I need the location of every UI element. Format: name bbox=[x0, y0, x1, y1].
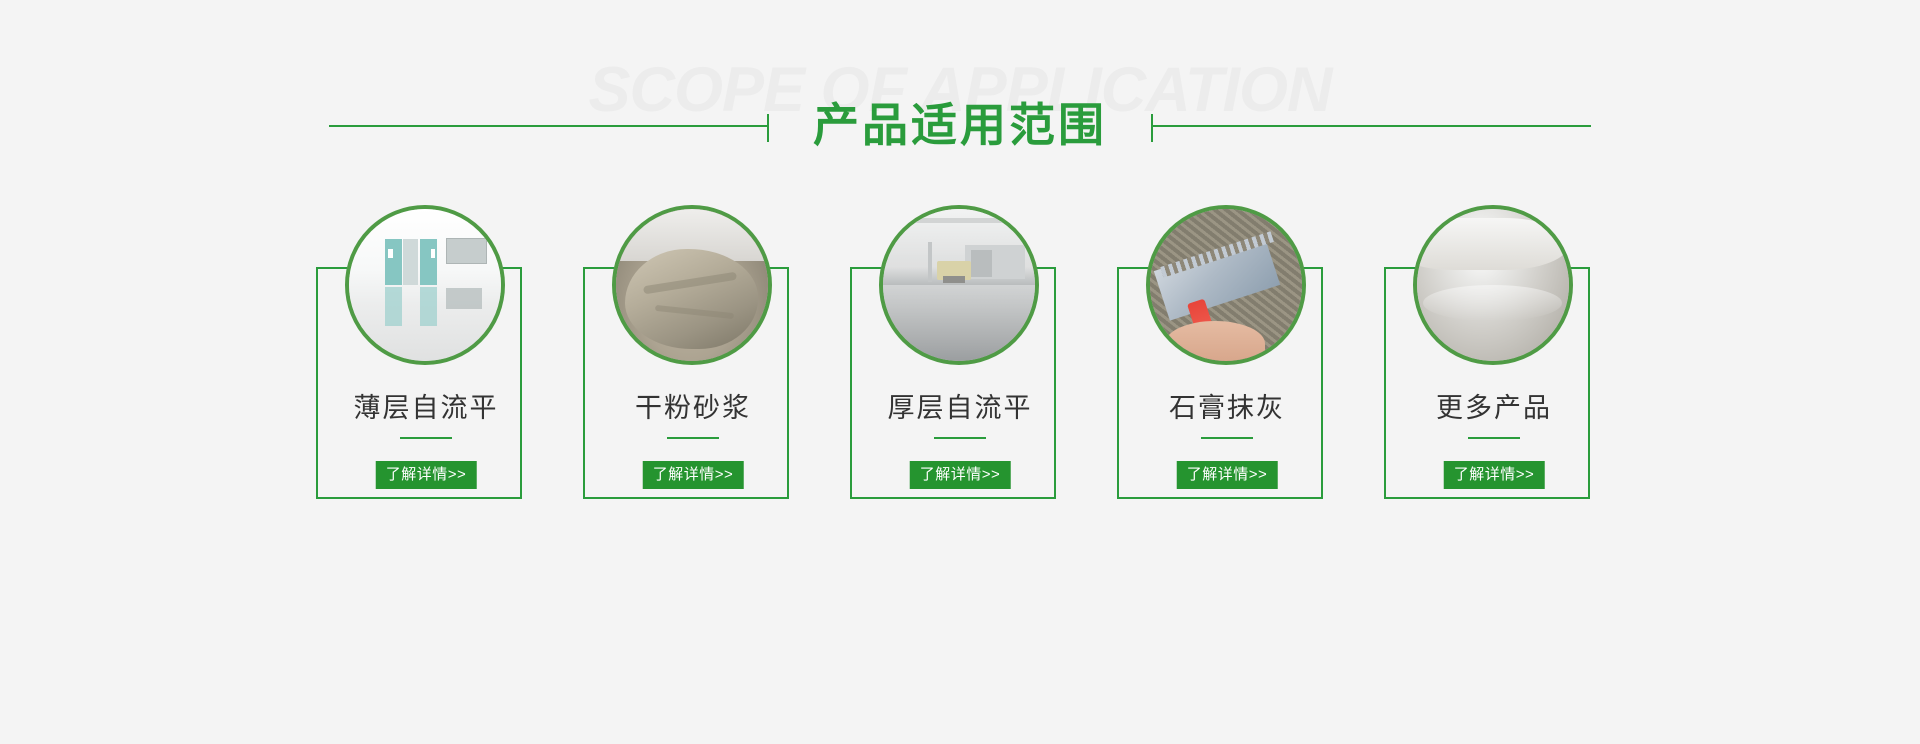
card-image-circle bbox=[1413, 205, 1573, 365]
thin-layer-self-leveling-floor-photo bbox=[349, 209, 501, 361]
dry-powder-mortar-photo bbox=[616, 209, 768, 361]
card-image-circle bbox=[345, 205, 505, 365]
product-category-card[interactable]: 干粉砂浆 了解详情>> bbox=[576, 205, 811, 515]
product-category-card[interactable]: 石膏抹灰 了解详情>> bbox=[1110, 205, 1345, 515]
heading-rule-left-tick bbox=[767, 114, 769, 142]
card-title: 厚层自流平 bbox=[843, 391, 1078, 425]
card-title: 干粉砂浆 bbox=[576, 391, 811, 425]
heading-title-row: 产品适用范围 bbox=[0, 97, 1920, 153]
heading-rule-right-bar bbox=[1151, 125, 1591, 127]
thick-layer-self-leveling-floor-photo bbox=[883, 209, 1035, 361]
card-title: 石膏抹灰 bbox=[1110, 391, 1345, 425]
card-title-underline bbox=[400, 437, 452, 439]
product-category-card[interactable]: 更多产品 了解详情>> bbox=[1377, 205, 1612, 515]
card-image-circle bbox=[879, 205, 1039, 365]
learn-more-button[interactable]: 了解详情>> bbox=[376, 461, 477, 489]
heading-rule-left-bar bbox=[329, 125, 769, 127]
card-title-underline bbox=[667, 437, 719, 439]
more-products-surface-photo bbox=[1417, 209, 1569, 361]
card-title-underline bbox=[1468, 437, 1520, 439]
page-title: 产品适用范围 bbox=[769, 97, 1151, 153]
learn-more-button[interactable]: 了解详情>> bbox=[1177, 461, 1278, 489]
card-title-underline bbox=[1201, 437, 1253, 439]
learn-more-button[interactable]: 了解详情>> bbox=[1444, 461, 1545, 489]
learn-more-button[interactable]: 了解详情>> bbox=[643, 461, 744, 489]
gypsum-plastering-trowel-photo bbox=[1150, 209, 1302, 361]
heading-rule-right-tick bbox=[1151, 114, 1153, 142]
learn-more-button[interactable]: 了解详情>> bbox=[910, 461, 1011, 489]
card-image-circle bbox=[612, 205, 772, 365]
heading-rule-left bbox=[329, 108, 769, 142]
card-image-circle bbox=[1146, 205, 1306, 365]
card-title-underline bbox=[934, 437, 986, 439]
section-heading: SCOPE OF APPLICATION 产品适用范围 bbox=[0, 55, 1920, 175]
product-category-card[interactable]: 厚层自流平 了解详情>> bbox=[843, 205, 1078, 515]
card-title: 薄层自流平 bbox=[309, 391, 544, 425]
product-category-card-list: 薄层自流平 了解详情>> 干粉砂浆 了解详情>> bbox=[0, 205, 1920, 515]
heading-rule-right bbox=[1151, 108, 1591, 142]
card-title: 更多产品 bbox=[1377, 391, 1612, 425]
scope-of-application-section: SCOPE OF APPLICATION 产品适用范围 bbox=[0, 0, 1920, 744]
product-category-card[interactable]: 薄层自流平 了解详情>> bbox=[309, 205, 544, 515]
